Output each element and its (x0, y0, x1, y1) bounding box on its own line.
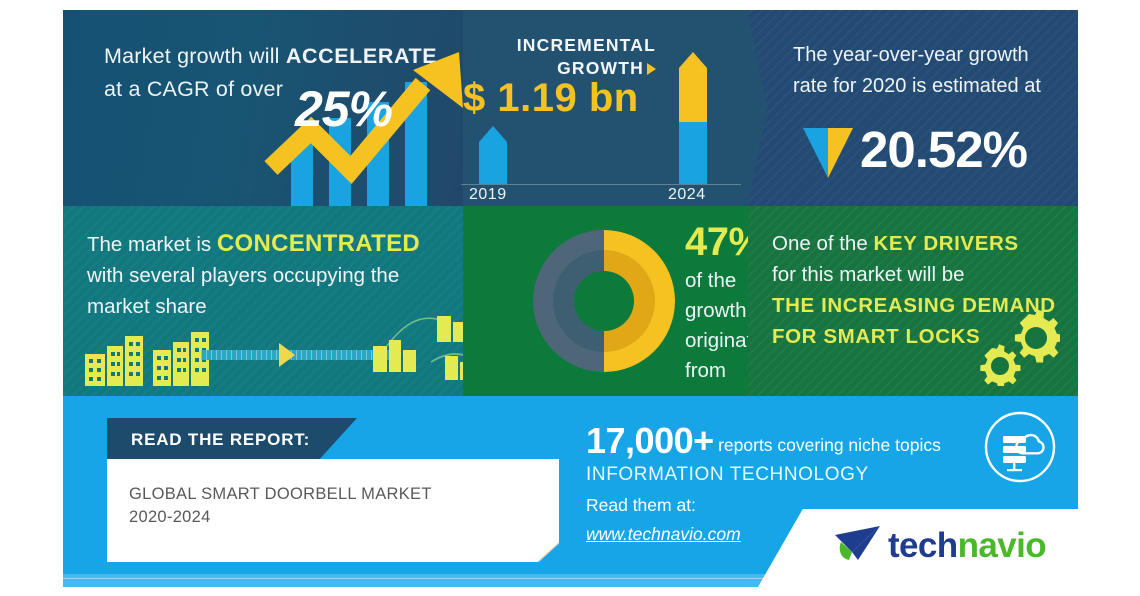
city-buildings-icon (73, 314, 463, 394)
key-drivers-keyword: KEY DRIVERS (873, 232, 1018, 255)
middle-row: The market is CONCENTRATED with several … (63, 206, 1078, 396)
concentration-lead: The market is (87, 233, 217, 256)
panel-market-growth-accelerate: Market growth will ACCELERATE at a CAGR … (63, 10, 463, 206)
donut-chart-regional-share (531, 228, 677, 374)
technavio-logo-box: technavio (758, 509, 1078, 587)
yoy-text: The year-over-year growth rate for 2020 … (793, 40, 1041, 102)
logo-text-tech: tech (888, 526, 958, 565)
yoy-line2: rate for 2020 is estimated at (793, 75, 1041, 97)
regional-share-value: 47% (685, 218, 748, 266)
concentration-line2: with several players occupying the (87, 264, 399, 287)
year-axis (461, 184, 751, 185)
key-drivers-lead: One of the (772, 232, 873, 255)
progress-track (201, 350, 391, 360)
yoy-value: 20.52% (860, 120, 1027, 179)
read-the-report-label: READ THE REPORT: (131, 430, 310, 450)
concentration-keyword: CONCENTRATED (217, 230, 420, 257)
incremental-growth-label: INCREMENTAL GROWTH (466, 34, 656, 80)
technavio-wordmark: technavio (888, 526, 1046, 566)
key-drivers-line2: for this market will be (772, 263, 965, 286)
footer-row: READ THE REPORT: GLOBAL SMART DOORBELL M… (63, 396, 1078, 587)
report-card[interactable]: GLOBAL SMART DOORBELL MARKET 2020-2024 (107, 459, 559, 562)
regional-line2: originate from (685, 329, 748, 382)
regional-line1: of the growth will (685, 269, 748, 322)
incremental-label-line1: INCREMENTAL (517, 35, 656, 55)
report-title-line1: GLOBAL SMART DOORBELL MARKET (129, 485, 432, 503)
network-arcs-icon (373, 310, 463, 388)
report-category: INFORMATION TECHNOLOGY (586, 464, 941, 486)
yoy-line1: The year-over-year growth (793, 44, 1029, 66)
logo-text-navio: navio (958, 526, 1046, 565)
reports-count: 17,000+ (586, 420, 714, 461)
technavio-logo: technavio (832, 522, 884, 571)
page-fold-corner (537, 542, 559, 562)
driver-line2: FOR SMART LOCKS (772, 325, 980, 348)
report-title: GLOBAL SMART DOORBELL MARKET 2020-2024 (129, 483, 432, 529)
report-title-line2: 2020-2024 (129, 508, 211, 526)
cagr-value: 25% (295, 80, 392, 138)
infographic-canvas: Market growth will ACCELERATE at a CAGR … (0, 0, 1140, 596)
panel-regional-growth-share: 47% of the growth will originate from NO… (463, 206, 748, 396)
play-arrow-icon (279, 343, 295, 367)
bar-2024 (679, 52, 707, 184)
infographic-board: Market growth will ACCELERATE at a CAGR … (63, 10, 1078, 587)
panel-market-concentration: The market is CONCENTRATED with several … (63, 206, 463, 396)
bar-2019 (479, 126, 507, 184)
cloud-server-icon (983, 410, 1057, 484)
year-label-start: 2019 (469, 186, 507, 204)
accelerate-lead: Market growth will (104, 44, 286, 68)
incremental-label-line2: GROWTH (557, 58, 644, 78)
caret-right-icon (647, 63, 656, 75)
reports-count-suffix: reports covering niche topics (718, 435, 941, 455)
panel-key-drivers: One of the KEY DRIVERS for this market w… (748, 206, 1078, 396)
accelerate-line2: at a CAGR of over (104, 77, 283, 101)
incremental-growth-value: $ 1.19 bn (463, 76, 639, 121)
year-label-end: 2024 (668, 186, 706, 204)
concentration-text: The market is CONCENTRATED with several … (87, 228, 420, 322)
website-link[interactable]: www.technavio.com (586, 524, 741, 545)
gears-icon (974, 308, 1060, 386)
read-the-report-tag: READ THE REPORT: (107, 418, 357, 462)
regional-share-text: 47% of the growth will originate from NO… (685, 218, 748, 396)
paper-plane-icon (832, 522, 884, 566)
top-row: Market growth will ACCELERATE at a CAGR … (63, 10, 1078, 206)
